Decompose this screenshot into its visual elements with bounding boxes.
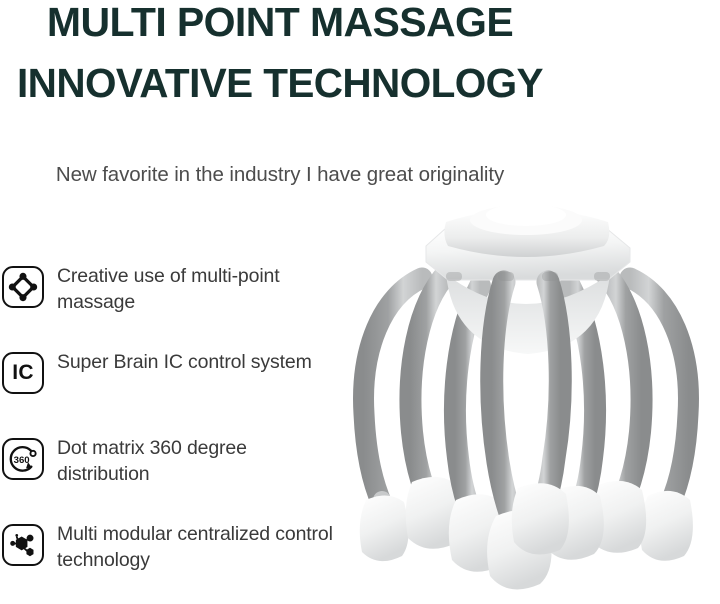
feature-item: 360 Dot matrix 360 degree distribution	[0, 438, 345, 524]
feature-label: Multi modular centralized control techno…	[57, 521, 342, 573]
ic-chip-icon: IC	[2, 352, 44, 394]
feature-label: Creative use of multi-point massage	[57, 263, 342, 315]
ic-chip-label: IC	[4, 354, 42, 392]
feature-item: IC Super Brain IC control system	[0, 352, 345, 438]
product-feature-banner: MULTI POINT MASSAGE INNOVATIVE TECHNOLOG…	[0, 0, 720, 604]
headline-line-2: INNOVATIVE TECHNOLOGY	[0, 63, 560, 104]
product-image	[330, 200, 720, 604]
feature-item: Multi modular centralized control techno…	[0, 524, 345, 604]
feature-label: Dot matrix 360 degree distribution	[57, 435, 342, 487]
rotation-360-icon: 360	[2, 438, 44, 480]
headline-line-1: MULTI POINT MASSAGE	[0, 2, 560, 43]
feature-label: Super Brain IC control system	[57, 349, 342, 375]
molecular-cluster-icon	[2, 524, 44, 566]
subtitle: New favorite in the industry I have grea…	[0, 163, 560, 187]
svg-text:360: 360	[14, 455, 30, 466]
feature-list: Creative use of multi-point massage IC S…	[0, 266, 345, 604]
diamond-nodes-icon	[2, 266, 44, 308]
feature-item: Creative use of multi-point massage	[0, 266, 345, 352]
